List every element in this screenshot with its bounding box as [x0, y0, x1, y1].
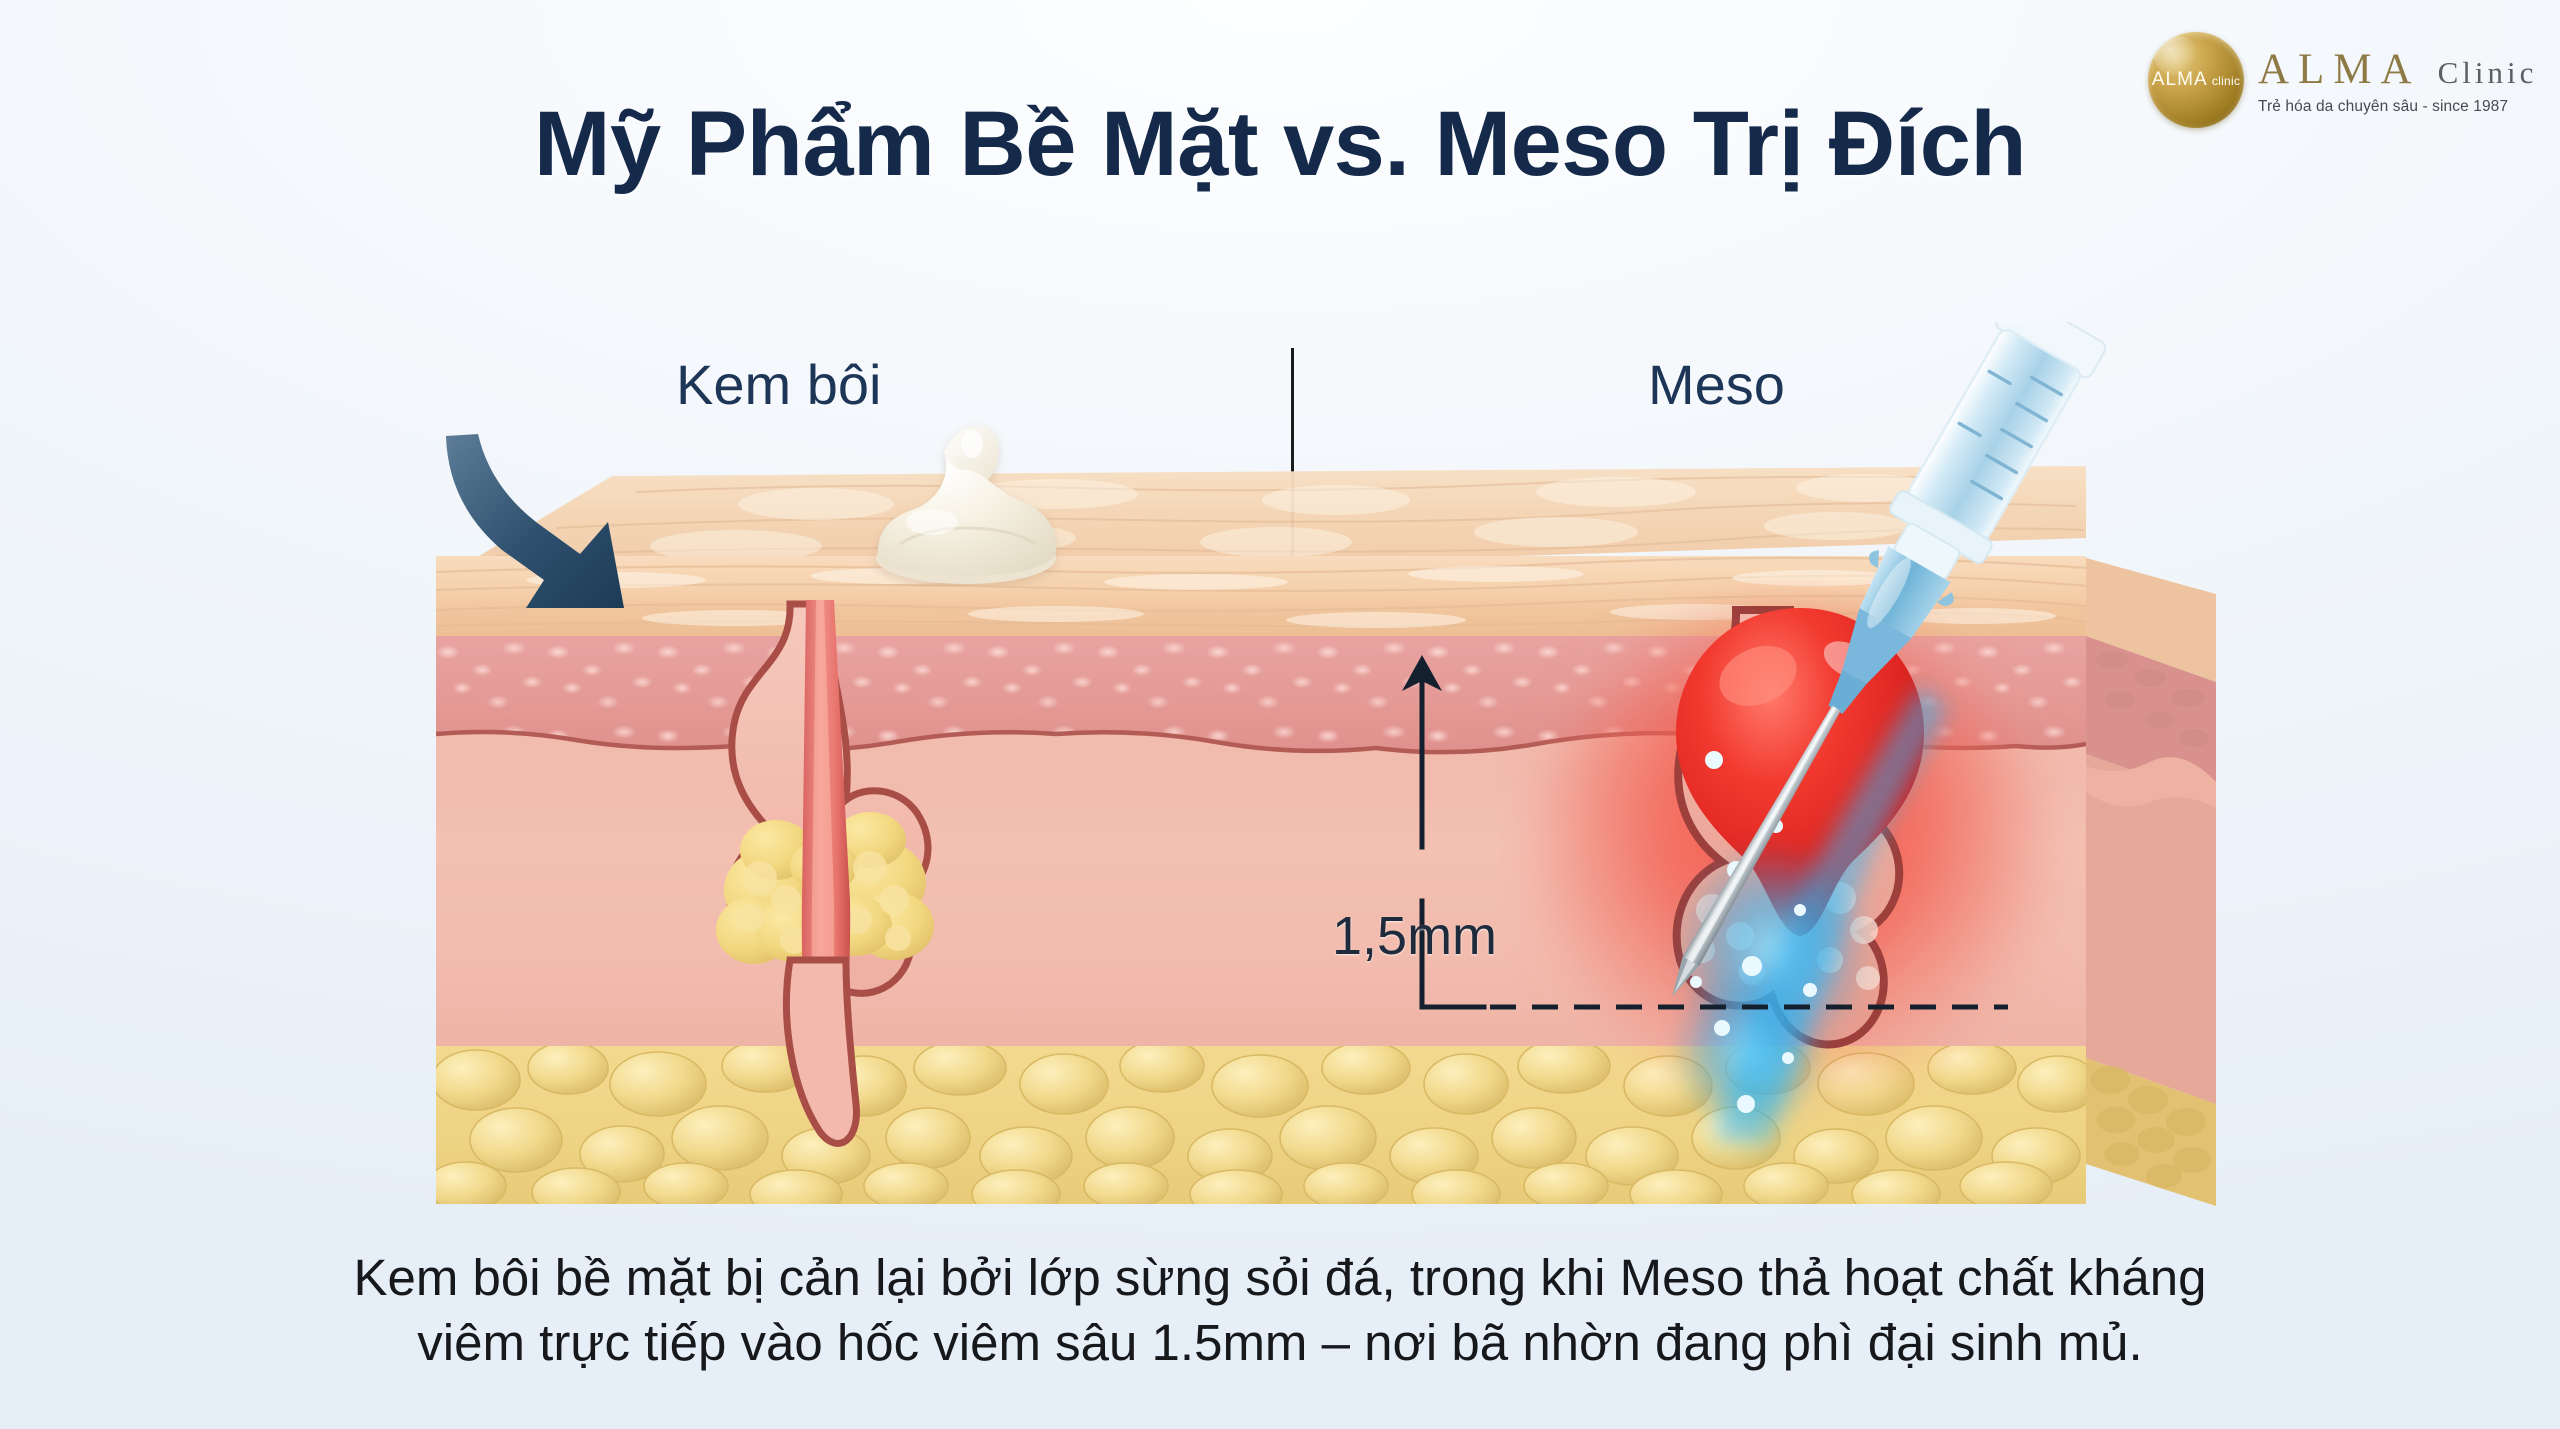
- syringe-icon: [1600, 322, 2220, 1052]
- label-kem-boi: Kem bôi: [676, 352, 881, 417]
- page-title: Mỹ Phẩm Bề Mặt vs. Meso Trị Đích: [0, 92, 2560, 197]
- application-arrow-icon: [440, 430, 770, 630]
- wordmark-clinic: Clinic: [2438, 57, 2538, 88]
- badge-main-text: ALMA: [2152, 69, 2208, 91]
- depth-value-label: 1,5mm: [1332, 905, 1497, 967]
- caption-text: Kem bôi bề mặt bị cản lại bởi lớp sừng s…: [190, 1245, 2370, 1376]
- wordmark-alma: ALMA: [2258, 48, 2421, 91]
- caption-line-1: Kem bôi bề mặt bị cản lại bởi lớp sừng s…: [190, 1245, 2370, 1310]
- caption-line-2: viêm trực tiếp vào hốc viêm sâu 1.5mm – …: [190, 1310, 2370, 1375]
- badge-sub-text: clinic: [2212, 74, 2240, 88]
- infographic-canvas: ALMA clinic ALMA Clinic Trẻ hóa da chuyê…: [0, 0, 2560, 1429]
- cream-dollop-icon: [860, 418, 1072, 586]
- hair-follicle-left: [594, 600, 1154, 1160]
